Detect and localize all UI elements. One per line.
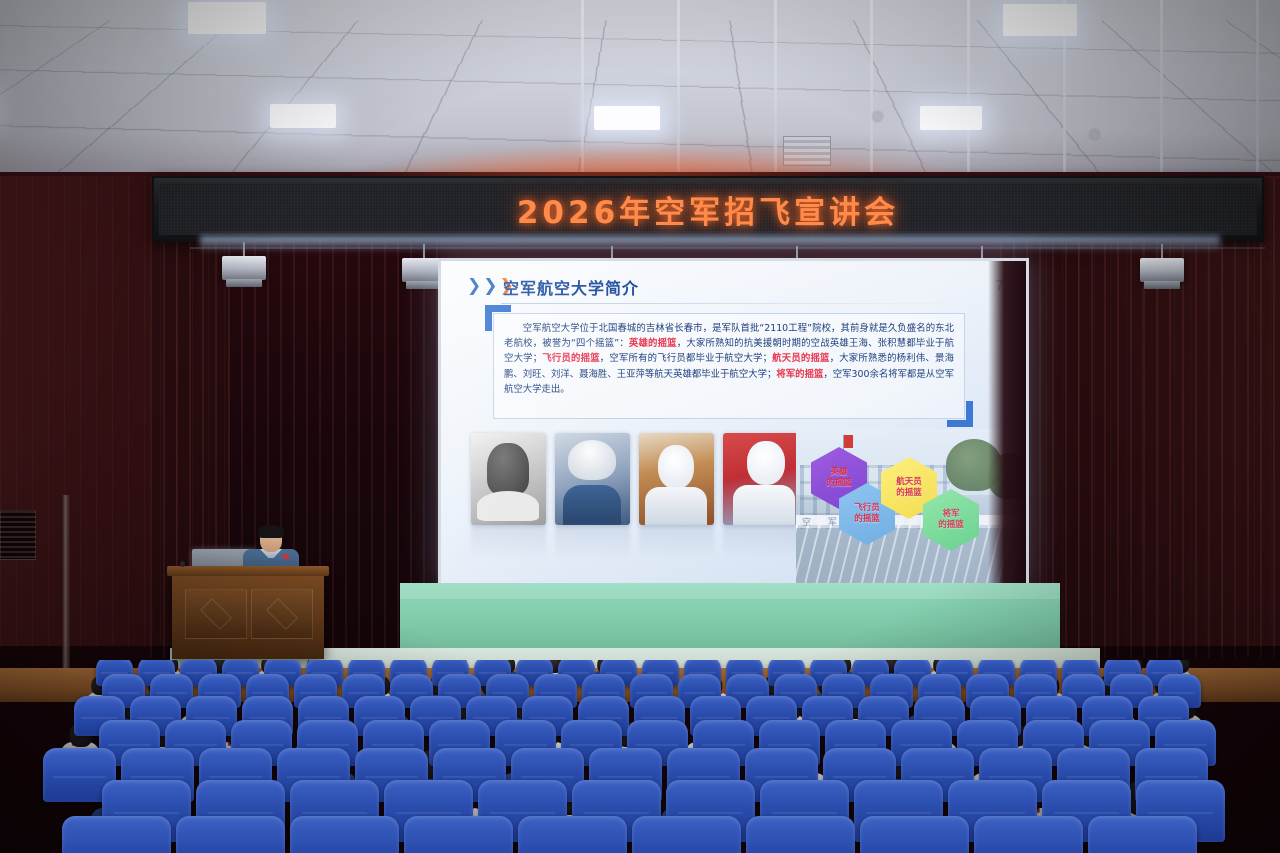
photo-astronaut-female bbox=[723, 433, 798, 525]
auditorium-seat[interactable] bbox=[1088, 816, 1197, 853]
auditorium-seat[interactable] bbox=[746, 816, 855, 853]
projection-screen: ❯❯❯ 空军航空大学简介 7 空军航空大学位于北国春城的吉林省长春市，是军队首批… bbox=[438, 258, 1029, 590]
auditorium-seat[interactable] bbox=[62, 816, 171, 853]
audience-seating bbox=[0, 660, 1280, 853]
auditorium-seat[interactable] bbox=[290, 816, 399, 853]
auditorium-seat[interactable] bbox=[176, 816, 285, 853]
stage-front-wall bbox=[400, 583, 1060, 657]
photo-fighter-pilot-helmet bbox=[555, 433, 630, 525]
slide-title-rule bbox=[501, 303, 971, 304]
slide-photo-strip bbox=[471, 433, 801, 525]
body-text-run: ，空军所有的飞行员都毕业于航空大学； bbox=[600, 353, 772, 364]
ceiling-light-panel bbox=[594, 106, 660, 130]
wall-air-vent bbox=[0, 510, 36, 560]
led-banner: 2026年空军招飞宣讲会 bbox=[152, 176, 1264, 242]
photo-old-aviation-school-pilot bbox=[471, 433, 546, 525]
highlighted-phrase: 英雄的摇篮 bbox=[629, 338, 677, 349]
smoke-detector-icon bbox=[873, 112, 882, 121]
curtain-occlusion bbox=[988, 261, 1026, 587]
highlighted-phrase: 飞行员的摇篮 bbox=[542, 353, 600, 364]
microphone-icon bbox=[180, 561, 185, 567]
stage-spotlight bbox=[1140, 258, 1184, 282]
ceiling-light-panel bbox=[920, 106, 982, 130]
flag-icon bbox=[844, 435, 853, 448]
corner-bracket-icon bbox=[947, 401, 973, 427]
highlighted-phrase: 将军的摇篮 bbox=[776, 369, 823, 380]
auditorium-seat[interactable] bbox=[974, 816, 1083, 853]
podium bbox=[172, 573, 324, 659]
photo-strip-reflection bbox=[471, 525, 801, 559]
highlighted-phrase: 航天员的摇篮 bbox=[772, 353, 830, 364]
stage-spotlight bbox=[222, 256, 266, 280]
ceiling-light-panel bbox=[1003, 4, 1077, 36]
presentation-slide: ❯❯❯ 空军航空大学简介 7 空军航空大学位于北国春城的吉林省长春市，是军队首批… bbox=[441, 261, 1026, 587]
auditorium-seat[interactable] bbox=[404, 816, 513, 853]
ceiling-light-panel bbox=[270, 104, 336, 128]
wall-pipe bbox=[62, 495, 70, 670]
photo-astronaut-male bbox=[639, 433, 714, 525]
slide-title: 空军航空大学简介 bbox=[503, 275, 639, 299]
auditorium-scene: 2026年空军招飞宣讲会 ❯❯❯ 空军航空大学简介 7 空军航空大学位于北国春城… bbox=[0, 0, 1280, 853]
auditorium-seat[interactable] bbox=[518, 816, 627, 853]
ceiling-speaker-icon bbox=[1090, 130, 1099, 139]
auditorium-seat[interactable] bbox=[632, 816, 741, 853]
slide-body-box: 空军航空大学位于北国春城的吉林省长春市，是军队首批“2110工程”院校，其前身就… bbox=[493, 313, 965, 419]
lighting-truss bbox=[190, 247, 1265, 249]
led-banner-underglow bbox=[200, 236, 1220, 252]
uniform-badge bbox=[283, 554, 289, 559]
slide-body-text: 空军航空大学位于北国春城的吉林省长春市，是军队首批“2110工程”院校，其前身就… bbox=[504, 321, 954, 397]
ceiling-light-panel bbox=[188, 2, 266, 34]
auditorium-seat[interactable] bbox=[860, 816, 969, 853]
led-banner-text: 2026年空军招飞宣讲会 bbox=[517, 187, 899, 232]
